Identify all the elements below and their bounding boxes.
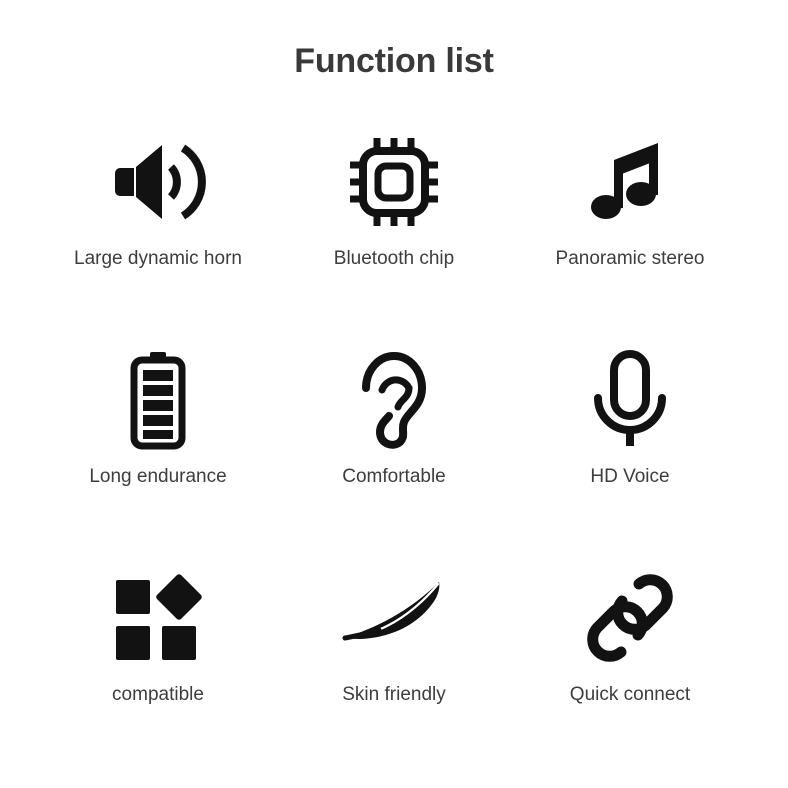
blocks-icon: [112, 564, 204, 672]
feature-label: Long endurance: [89, 466, 226, 488]
music-note-icon: [590, 128, 670, 236]
feature-label: Bluetooth chip: [334, 248, 454, 270]
feature-label: compatible: [112, 684, 204, 706]
feature-item-hd-voice: HD Voice: [512, 346, 748, 564]
feature-label: Large dynamic horn: [74, 248, 242, 270]
link-icon: [582, 564, 678, 672]
feature-item-bluetooth-chip: Bluetooth chip: [276, 128, 512, 346]
speaker-icon: [108, 128, 208, 236]
feather-icon: [339, 564, 449, 672]
feature-label: Comfortable: [342, 466, 446, 488]
feature-item-skin-friendly: Skin friendly: [276, 564, 512, 782]
chip-icon: [346, 128, 442, 236]
feature-item-long-endurance: Long endurance: [40, 346, 276, 564]
feature-label: Quick connect: [570, 684, 690, 706]
battery-icon: [126, 346, 190, 454]
feature-item-compatible: compatible: [40, 564, 276, 782]
feature-label: Skin friendly: [342, 684, 446, 706]
feature-item-quick-connect: Quick connect: [512, 564, 748, 782]
feature-item-panoramic-stereo: Panoramic stereo: [512, 128, 748, 346]
feature-label: HD Voice: [590, 466, 669, 488]
feature-grid: Large dynamic horn: [40, 128, 748, 782]
feature-item-comfortable: Comfortable: [276, 346, 512, 564]
feature-item-large-dynamic-horn: Large dynamic horn: [40, 128, 276, 346]
ear-icon: [356, 346, 432, 454]
feature-label: Panoramic stereo: [556, 248, 705, 270]
function-list-page: Function list Large dynamic horn: [0, 0, 788, 788]
microphone-icon: [588, 346, 672, 454]
page-title: Function list: [0, 42, 788, 81]
